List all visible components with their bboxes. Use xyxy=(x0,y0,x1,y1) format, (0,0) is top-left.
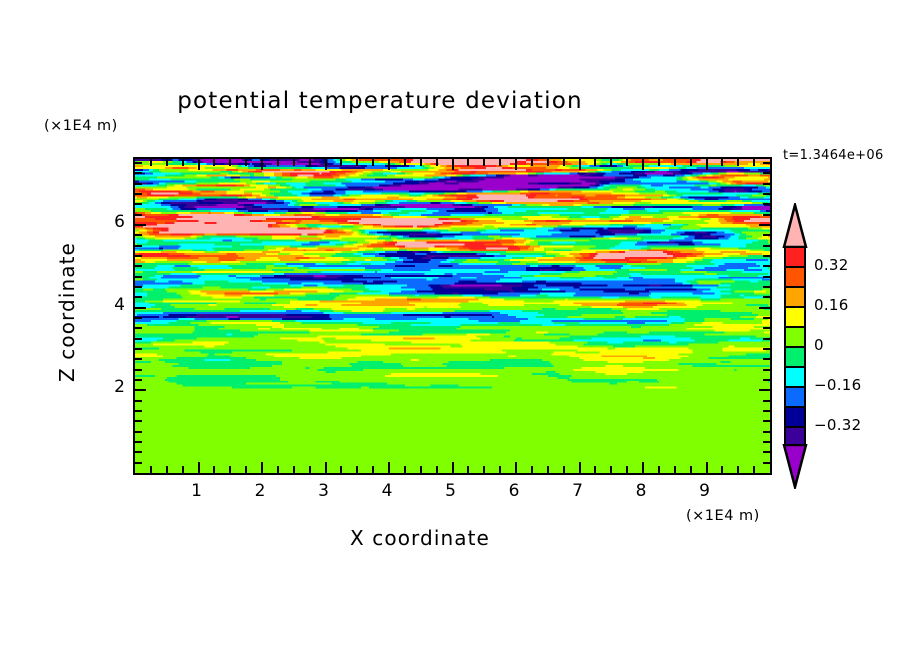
y-tick-right xyxy=(763,203,770,205)
y-tick-right xyxy=(763,317,770,319)
contour-plot xyxy=(133,157,772,475)
y-tick xyxy=(135,224,146,226)
x-tick xyxy=(213,466,215,473)
x-tick-top xyxy=(245,159,247,166)
x-tick-top xyxy=(642,159,644,170)
x-tick xyxy=(753,466,755,473)
y-tick xyxy=(135,317,142,319)
y-tick xyxy=(135,338,142,340)
y-tick-right xyxy=(763,441,770,443)
x-tick-label: 2 xyxy=(245,481,275,501)
y-tick xyxy=(135,214,142,216)
x-tick xyxy=(594,466,596,473)
y-tick xyxy=(135,441,142,443)
y-tick xyxy=(135,358,142,360)
x-tick xyxy=(610,466,612,473)
y-tick xyxy=(135,255,142,257)
contour-field xyxy=(135,159,770,473)
y-tick xyxy=(135,431,142,433)
y-tick xyxy=(135,203,142,205)
colorbar-bottom-arrow xyxy=(780,444,810,489)
x-tick xyxy=(356,466,358,473)
x-tick-top xyxy=(674,159,676,166)
timestamp-label: t=1.3464e+06 xyxy=(783,148,884,163)
y-tick xyxy=(135,276,142,278)
x-tick-top xyxy=(325,159,327,170)
x-tick xyxy=(182,466,184,473)
x-tick-top xyxy=(483,159,485,166)
y-tick-right xyxy=(763,286,770,288)
x-tick-label: 6 xyxy=(499,481,529,501)
y-axis-title: Z coordinate xyxy=(55,197,79,427)
x-axis-unit: (×1E4 m) xyxy=(686,508,760,524)
x-tick xyxy=(340,466,342,473)
y-tick xyxy=(135,327,142,329)
x-tick-label: 1 xyxy=(182,481,212,501)
x-tick xyxy=(658,466,660,473)
y-tick-right xyxy=(763,234,770,236)
x-tick xyxy=(452,462,454,473)
x-tick xyxy=(245,466,247,473)
colorbar-band xyxy=(786,408,804,428)
y-tick-right xyxy=(763,348,770,350)
x-tick-top xyxy=(467,159,469,166)
x-tick-top xyxy=(563,159,565,166)
x-tick-top xyxy=(198,159,200,170)
y-tick-right xyxy=(763,255,770,257)
x-tick-top xyxy=(420,159,422,166)
y-tick xyxy=(135,369,142,371)
x-tick-label: 9 xyxy=(690,481,720,501)
colorbar-tick-label: 0.16 xyxy=(814,296,849,314)
colorbar-tick-label: 0 xyxy=(814,336,824,354)
x-tick-top xyxy=(404,159,406,166)
colorbar-band xyxy=(786,368,804,388)
x-tick-top xyxy=(150,159,152,166)
y-tick-right xyxy=(763,183,770,185)
colorbar-body xyxy=(784,246,806,446)
x-tick-top xyxy=(610,159,612,166)
x-tick xyxy=(261,462,263,473)
x-tick-top xyxy=(594,159,596,166)
x-tick xyxy=(420,466,422,473)
y-tick-label: 2 xyxy=(95,377,125,397)
y-tick-right xyxy=(763,265,770,267)
colorbar-top-arrow xyxy=(780,203,810,248)
x-tick-top xyxy=(372,159,374,166)
x-tick xyxy=(706,462,708,473)
y-tick xyxy=(135,379,142,381)
x-tick-top xyxy=(626,159,628,166)
x-tick-label: 4 xyxy=(372,481,402,501)
x-tick-label: 7 xyxy=(563,481,593,501)
x-tick xyxy=(721,466,723,473)
y-tick-right xyxy=(763,327,770,329)
x-tick xyxy=(499,466,501,473)
y-tick xyxy=(135,462,142,464)
y-tick xyxy=(135,348,142,350)
x-tick xyxy=(404,466,406,473)
y-axis-unit: (×1E4 m) xyxy=(44,118,118,134)
colorbar-band xyxy=(786,328,804,348)
y-tick xyxy=(135,410,142,412)
x-tick-top xyxy=(436,159,438,166)
x-tick-top xyxy=(658,159,660,166)
y-tick xyxy=(135,265,142,267)
colorbar-band xyxy=(786,388,804,408)
y-tick xyxy=(135,400,142,402)
x-tick-top xyxy=(515,159,517,170)
x-tick-top xyxy=(721,159,723,166)
x-tick-top xyxy=(293,159,295,166)
x-tick xyxy=(467,466,469,473)
y-tick xyxy=(135,296,142,298)
x-tick-top xyxy=(356,159,358,166)
y-tick xyxy=(135,245,142,247)
y-tick-right xyxy=(763,400,770,402)
x-tick xyxy=(388,462,390,473)
x-tick-top xyxy=(753,159,755,166)
y-tick xyxy=(135,389,146,391)
y-tick-right xyxy=(763,245,770,247)
y-tick-right xyxy=(763,410,770,412)
x-tick xyxy=(277,466,279,473)
y-tick-label: 6 xyxy=(95,212,125,232)
x-tick xyxy=(372,466,374,473)
x-tick-top xyxy=(166,159,168,166)
colorbar-band xyxy=(786,348,804,368)
y-tick-right xyxy=(763,172,770,174)
x-tick-top xyxy=(213,159,215,166)
colorbar-tick-label: 0.32 xyxy=(814,256,849,274)
x-tick-top xyxy=(737,159,739,166)
x-tick-top xyxy=(277,159,279,166)
x-tick xyxy=(547,466,549,473)
x-axis-title: X coordinate xyxy=(290,526,550,550)
colorbar: 0.320.160−0.16−0.32 xyxy=(780,203,810,488)
y-tick-right xyxy=(759,224,770,226)
y-tick-right xyxy=(763,369,770,371)
colorbar-tick-label: −0.16 xyxy=(814,376,861,394)
y-tick xyxy=(135,172,142,174)
y-tick-right xyxy=(763,296,770,298)
y-tick xyxy=(135,234,142,236)
y-tick-right xyxy=(763,431,770,433)
y-tick-right xyxy=(763,276,770,278)
x-tick-top xyxy=(706,159,708,170)
y-tick-label: 4 xyxy=(95,295,125,315)
x-tick-label: 3 xyxy=(309,481,339,501)
x-tick-top xyxy=(309,159,311,166)
x-tick xyxy=(166,466,168,473)
y-tick-right xyxy=(763,420,770,422)
x-tick xyxy=(690,466,692,473)
colorbar-band xyxy=(786,268,804,288)
x-tick xyxy=(483,466,485,473)
colorbar-band xyxy=(786,248,804,268)
y-tick xyxy=(135,286,142,288)
y-tick-right xyxy=(763,193,770,195)
colorbar-tick-label: −0.32 xyxy=(814,416,861,434)
x-tick xyxy=(531,466,533,473)
x-tick-top xyxy=(579,159,581,170)
y-tick xyxy=(135,451,142,453)
x-tick-label: 8 xyxy=(626,481,656,501)
x-tick xyxy=(325,462,327,473)
y-tick-right xyxy=(763,462,770,464)
y-tick xyxy=(135,420,142,422)
y-tick xyxy=(135,193,142,195)
x-tick-top xyxy=(340,159,342,166)
x-tick-top xyxy=(690,159,692,166)
x-tick xyxy=(626,466,628,473)
x-tick-top xyxy=(452,159,454,170)
y-tick-right xyxy=(763,162,770,164)
x-tick xyxy=(309,466,311,473)
x-tick xyxy=(229,466,231,473)
x-tick-top xyxy=(388,159,390,170)
y-tick-right xyxy=(759,389,770,391)
x-tick-top xyxy=(182,159,184,166)
x-tick xyxy=(642,462,644,473)
x-tick xyxy=(150,466,152,473)
page-title: potential temperature deviation xyxy=(0,88,760,114)
x-tick xyxy=(737,466,739,473)
x-tick xyxy=(436,466,438,473)
x-tick xyxy=(674,466,676,473)
x-tick-top xyxy=(499,159,501,166)
x-tick-top xyxy=(547,159,549,166)
x-tick xyxy=(563,466,565,473)
x-tick-top xyxy=(229,159,231,166)
x-tick xyxy=(579,462,581,473)
x-tick xyxy=(515,462,517,473)
x-tick-top xyxy=(531,159,533,166)
colorbar-band xyxy=(786,288,804,308)
x-tick-label: 5 xyxy=(436,481,466,501)
y-tick-right xyxy=(763,338,770,340)
x-tick-top xyxy=(261,159,263,170)
y-tick-right xyxy=(763,214,770,216)
x-tick xyxy=(293,466,295,473)
y-tick-right xyxy=(763,358,770,360)
y-tick-right xyxy=(759,307,770,309)
y-tick-right xyxy=(763,379,770,381)
colorbar-band xyxy=(786,308,804,328)
x-tick xyxy=(198,462,200,473)
y-tick xyxy=(135,183,142,185)
y-tick xyxy=(135,307,146,309)
y-tick xyxy=(135,162,142,164)
y-tick-right xyxy=(763,451,770,453)
